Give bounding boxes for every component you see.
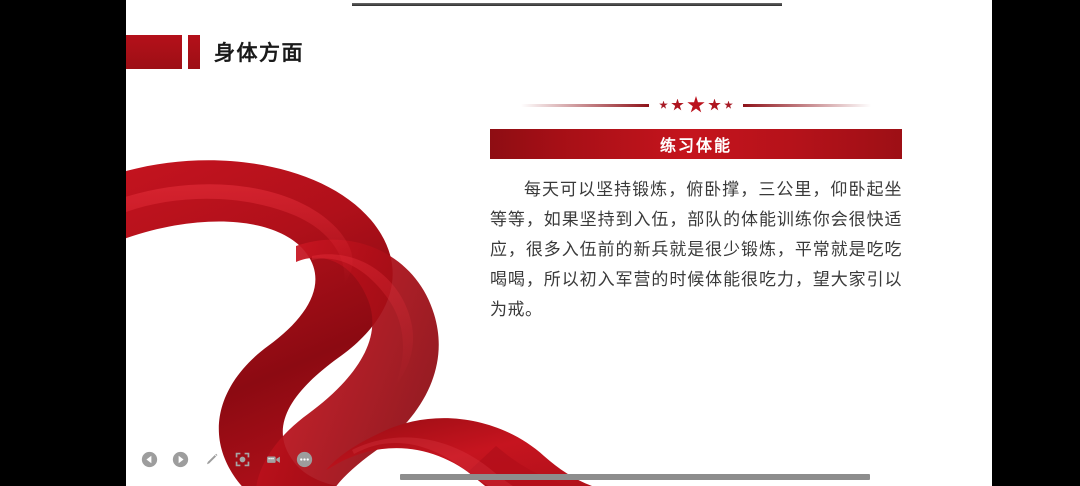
- letterbox-right: [992, 0, 1080, 486]
- play-circle-icon: [172, 451, 189, 468]
- ellipsis-circle-icon: [296, 451, 313, 468]
- star-icon: [708, 99, 721, 112]
- screenshot-button[interactable]: [233, 450, 252, 469]
- star-icon: [659, 101, 668, 110]
- slide-bottom-bar: [400, 474, 870, 480]
- video-player-screen: 身体方面 练习体能 每天可以坚持锻炼，俯卧撑，三公里，仰卧起坐等等，如果坚持到入…: [0, 0, 1080, 486]
- divider-line-left: [521, 104, 649, 107]
- camera-focus-icon: [234, 451, 251, 468]
- record-button[interactable]: [264, 450, 283, 469]
- body-paragraph: 每天可以坚持锻炼，俯卧撑，三公里，仰卧起坐等等，如果坚持到入伍，部队的体能训练你…: [490, 175, 902, 325]
- star-icon: [687, 96, 705, 114]
- top-divider-rule: [352, 3, 782, 6]
- page-title: 身体方面: [214, 37, 304, 67]
- media-control-bar[interactable]: [140, 450, 314, 469]
- header-accent-block-wide: [126, 35, 182, 69]
- section-header: 身体方面: [126, 33, 304, 71]
- more-button[interactable]: [295, 450, 314, 469]
- annotate-button[interactable]: [202, 450, 221, 469]
- divider-line-right: [743, 104, 871, 107]
- pencil-icon: [203, 451, 220, 468]
- rewind-circle-icon: [141, 451, 158, 468]
- star-icon: [724, 101, 733, 110]
- video-camera-icon: [265, 451, 282, 468]
- play-button[interactable]: [171, 450, 190, 469]
- letterbox-left: [0, 0, 126, 486]
- star-divider: [490, 92, 902, 118]
- content-column: 练习体能 每天可以坚持锻炼，俯卧撑，三公里，仰卧起坐等等，如果坚持到入伍，部队的…: [490, 92, 902, 342]
- star-icon: [671, 99, 684, 112]
- header-accent-block-narrow: [188, 35, 200, 69]
- card-title-text: 练习体能: [660, 132, 732, 156]
- star-group: [649, 96, 743, 114]
- card-title-bar: 练习体能: [490, 129, 902, 159]
- rewind-button[interactable]: [140, 450, 159, 469]
- presentation-slide: 身体方面 练习体能 每天可以坚持锻炼，俯卧撑，三公里，仰卧起坐等等，如果坚持到入…: [126, 0, 992, 486]
